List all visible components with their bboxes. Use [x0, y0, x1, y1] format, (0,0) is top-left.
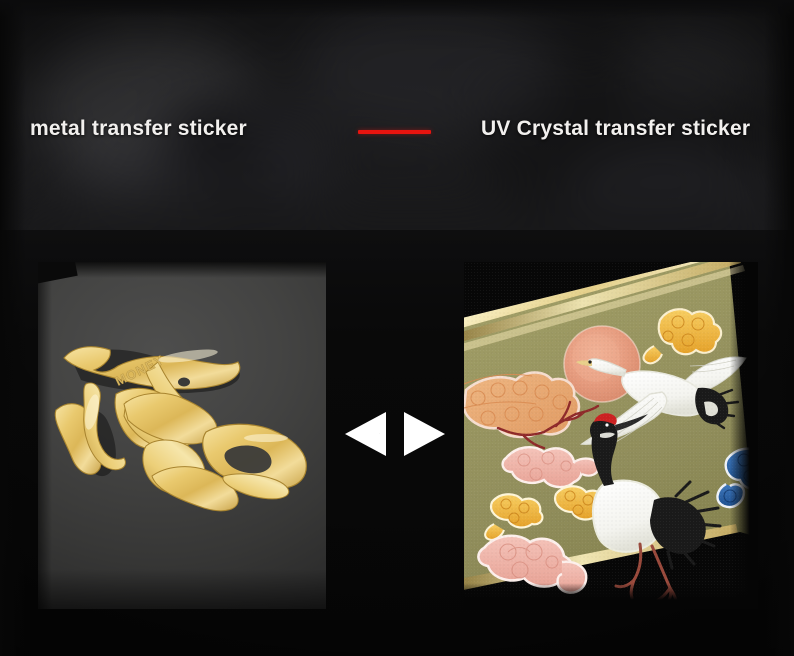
right-arrow-icon [404, 412, 445, 456]
comparison-arrows [339, 408, 451, 460]
right-product-title: UV Crystal transfer sticker [481, 114, 771, 144]
photo-bottom-shading [464, 583, 758, 609]
banner-root: metal transfer sticker UV Crystal transf… [0, 0, 794, 656]
heading-row: metal transfer sticker UV Crystal transf… [0, 108, 794, 198]
background-top-edge [0, 0, 794, 18]
left-product-title: metal transfer sticker [30, 114, 340, 144]
gold-calligraphy-decal: MONEY [38, 262, 326, 609]
uv-crystal-lacquer-board [464, 262, 758, 609]
left-arrow-icon [345, 412, 386, 456]
calligraphy-eye-hole [178, 378, 190, 387]
left-product-image[interactable]: MONEY [38, 262, 326, 609]
photo-right-shading [730, 262, 758, 609]
background-right-edge [764, 0, 794, 656]
background-left-edge [0, 0, 26, 656]
title-divider [358, 130, 431, 134]
right-product-image[interactable] [464, 262, 758, 609]
